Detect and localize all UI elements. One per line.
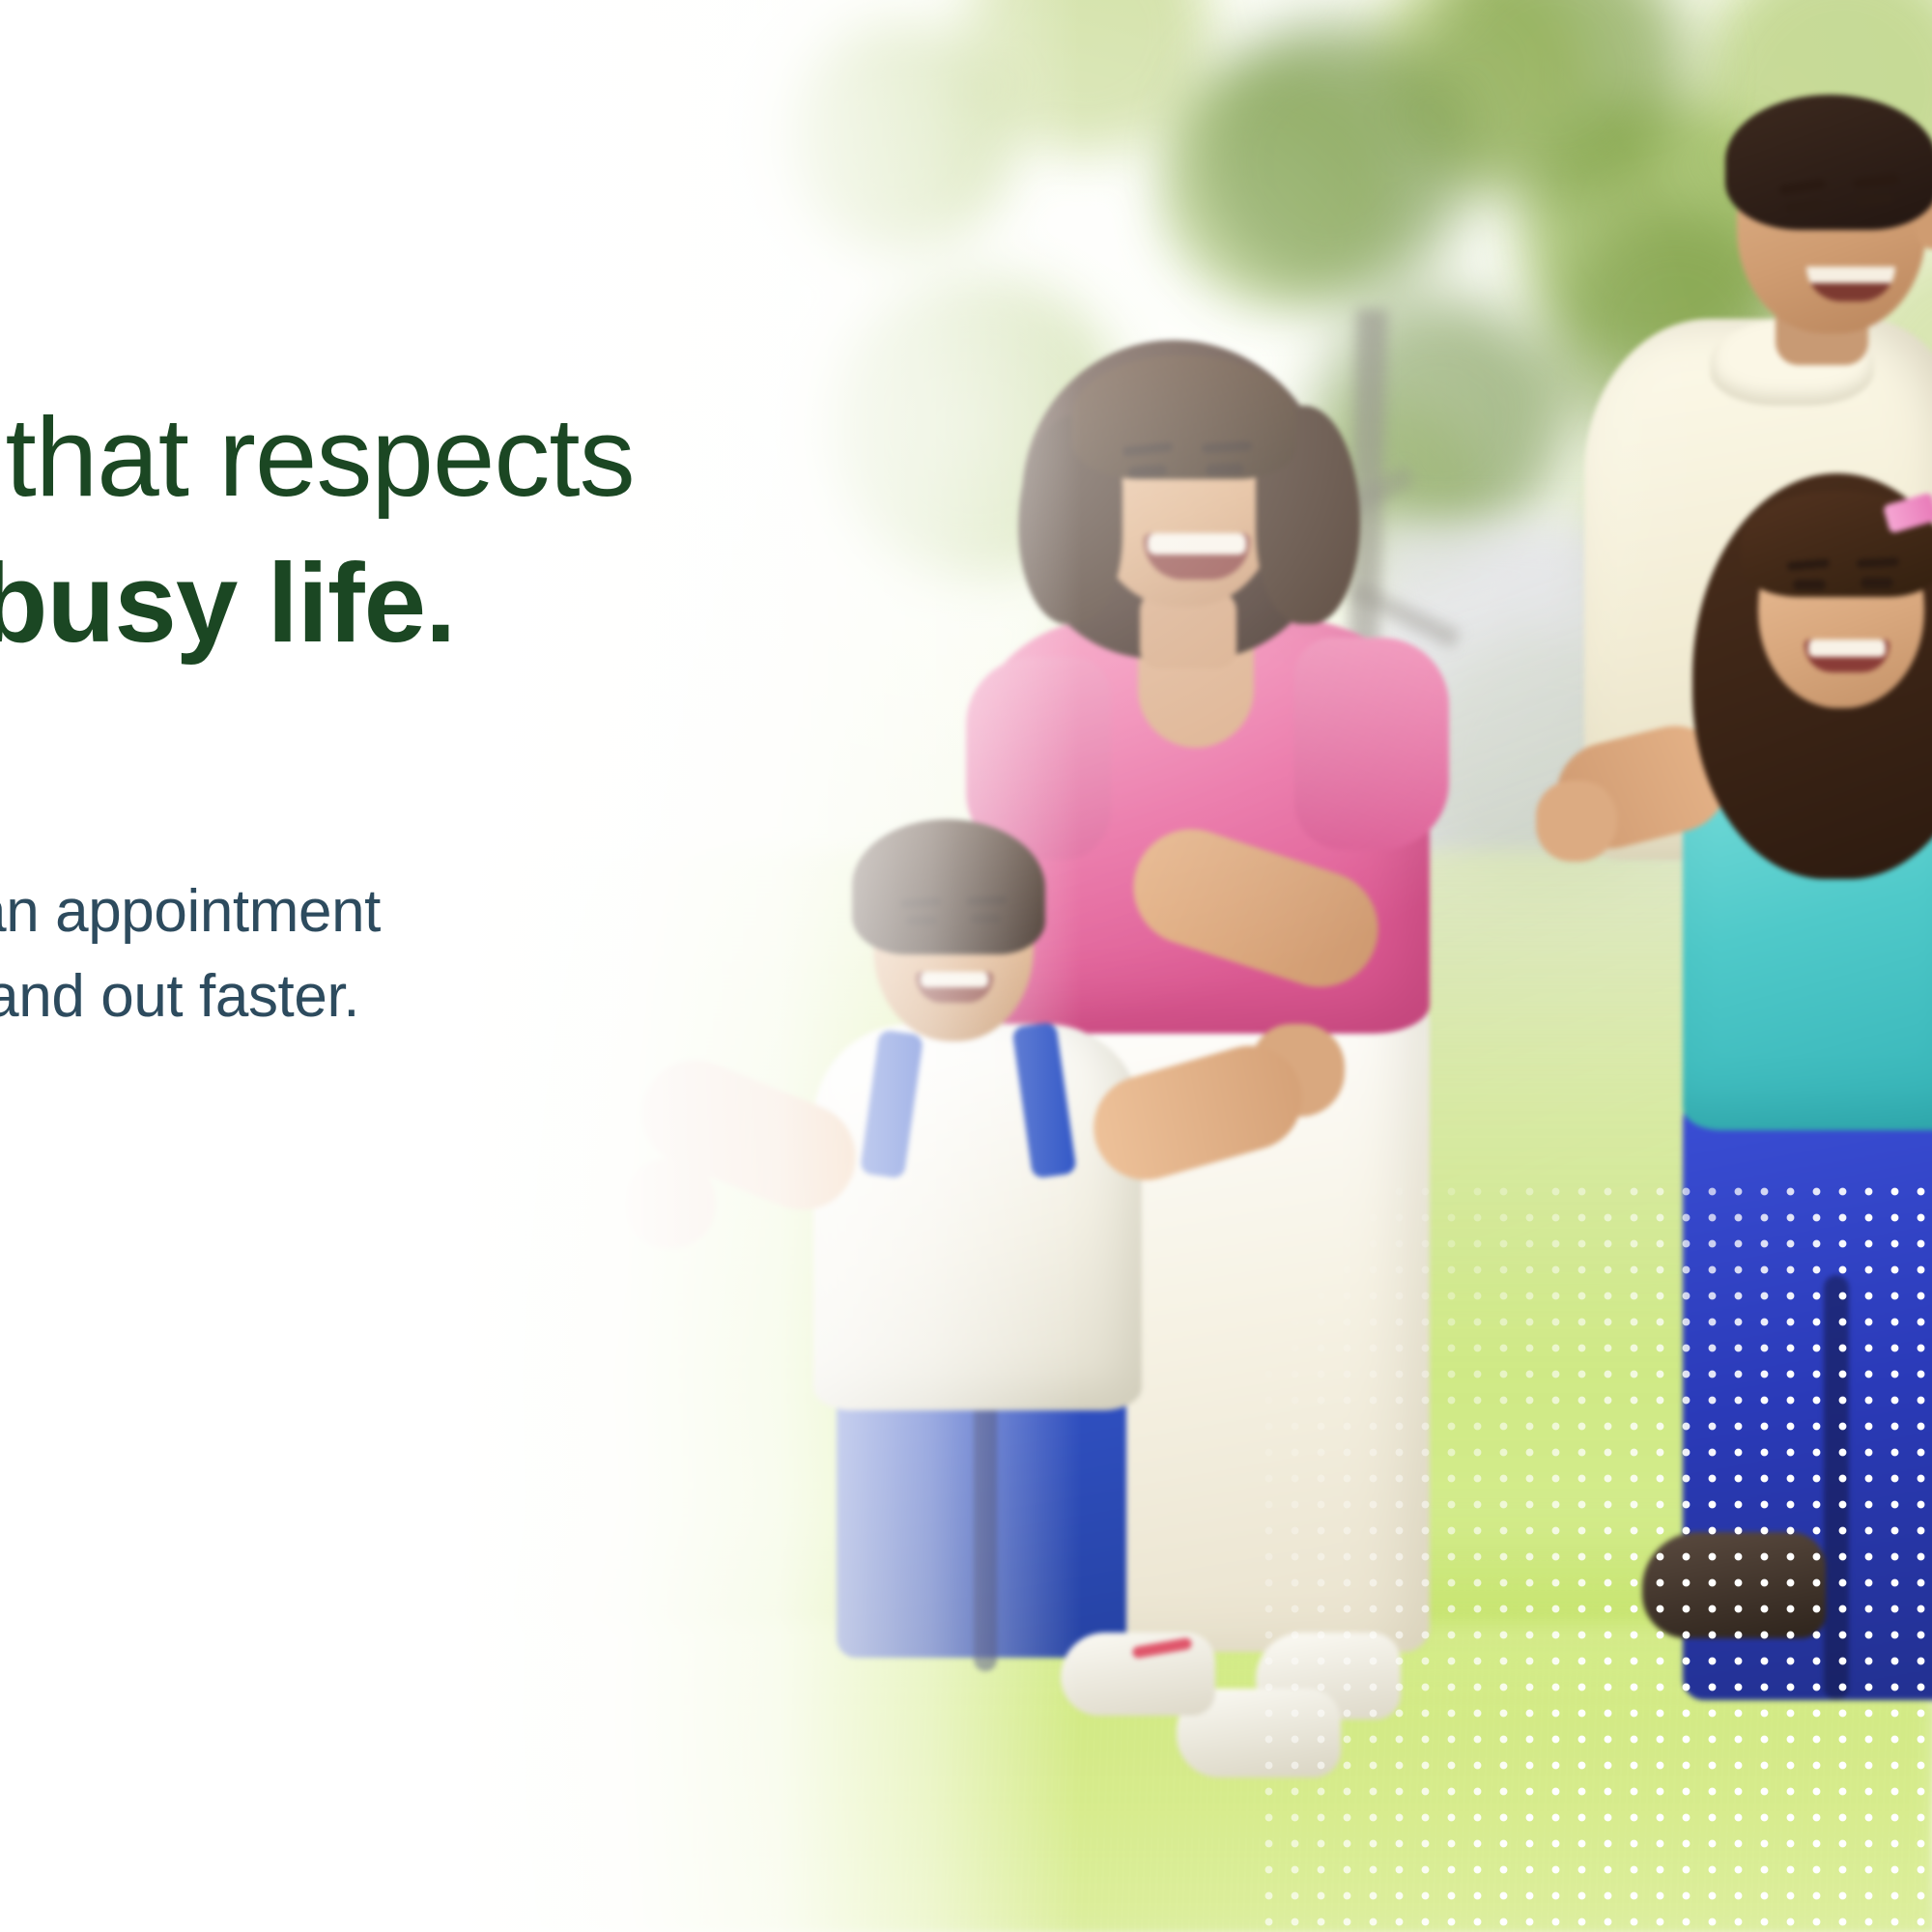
boy-hair <box>852 819 1045 954</box>
woman-teeth <box>1148 533 1245 554</box>
boy-hand-left <box>626 1159 715 1248</box>
man-hair <box>1725 95 1932 230</box>
woman-sleeve-right <box>1294 638 1449 850</box>
girl-hand <box>1536 781 1617 862</box>
girl-shoe <box>1642 1532 1826 1638</box>
subcopy: Schedule an appointment and get in and o… <box>0 869 869 1039</box>
boy-leg-gap <box>974 1381 997 1671</box>
headline-line-1-rest: that respects <box>0 394 635 520</box>
boy-eyebrow-right <box>966 895 1007 905</box>
subcopy-line-1: Schedule an appointment <box>0 869 869 954</box>
boy-smile <box>916 972 993 1003</box>
boy-teeth <box>921 972 988 987</box>
woman-eye-right <box>1206 463 1244 475</box>
girl-leg-gap <box>1824 1275 1849 1700</box>
subcopy-line-2: and get in and out faster. <box>0 954 869 1039</box>
man-teeth <box>1806 267 1895 283</box>
headline: A lab that respects your busy life. <box>0 384 869 676</box>
boy-eye-right <box>970 914 1001 923</box>
marketing-banner: A lab that respects your busy life. Sche… <box>0 0 1932 1932</box>
woman-hair-top <box>1072 355 1296 479</box>
headline-line-1: A lab that respects <box>0 384 869 530</box>
boy-shoe <box>1061 1633 1215 1716</box>
boy-eye-left <box>906 916 937 925</box>
girl-smile <box>1804 639 1889 672</box>
boy-white-shirt <box>813 1024 1142 1410</box>
girl-teeth <box>1808 639 1887 657</box>
girl-eye-left <box>1793 580 1826 590</box>
girl-eye-right <box>1861 578 1893 588</box>
headline-line-2: your busy life. <box>0 530 869 676</box>
